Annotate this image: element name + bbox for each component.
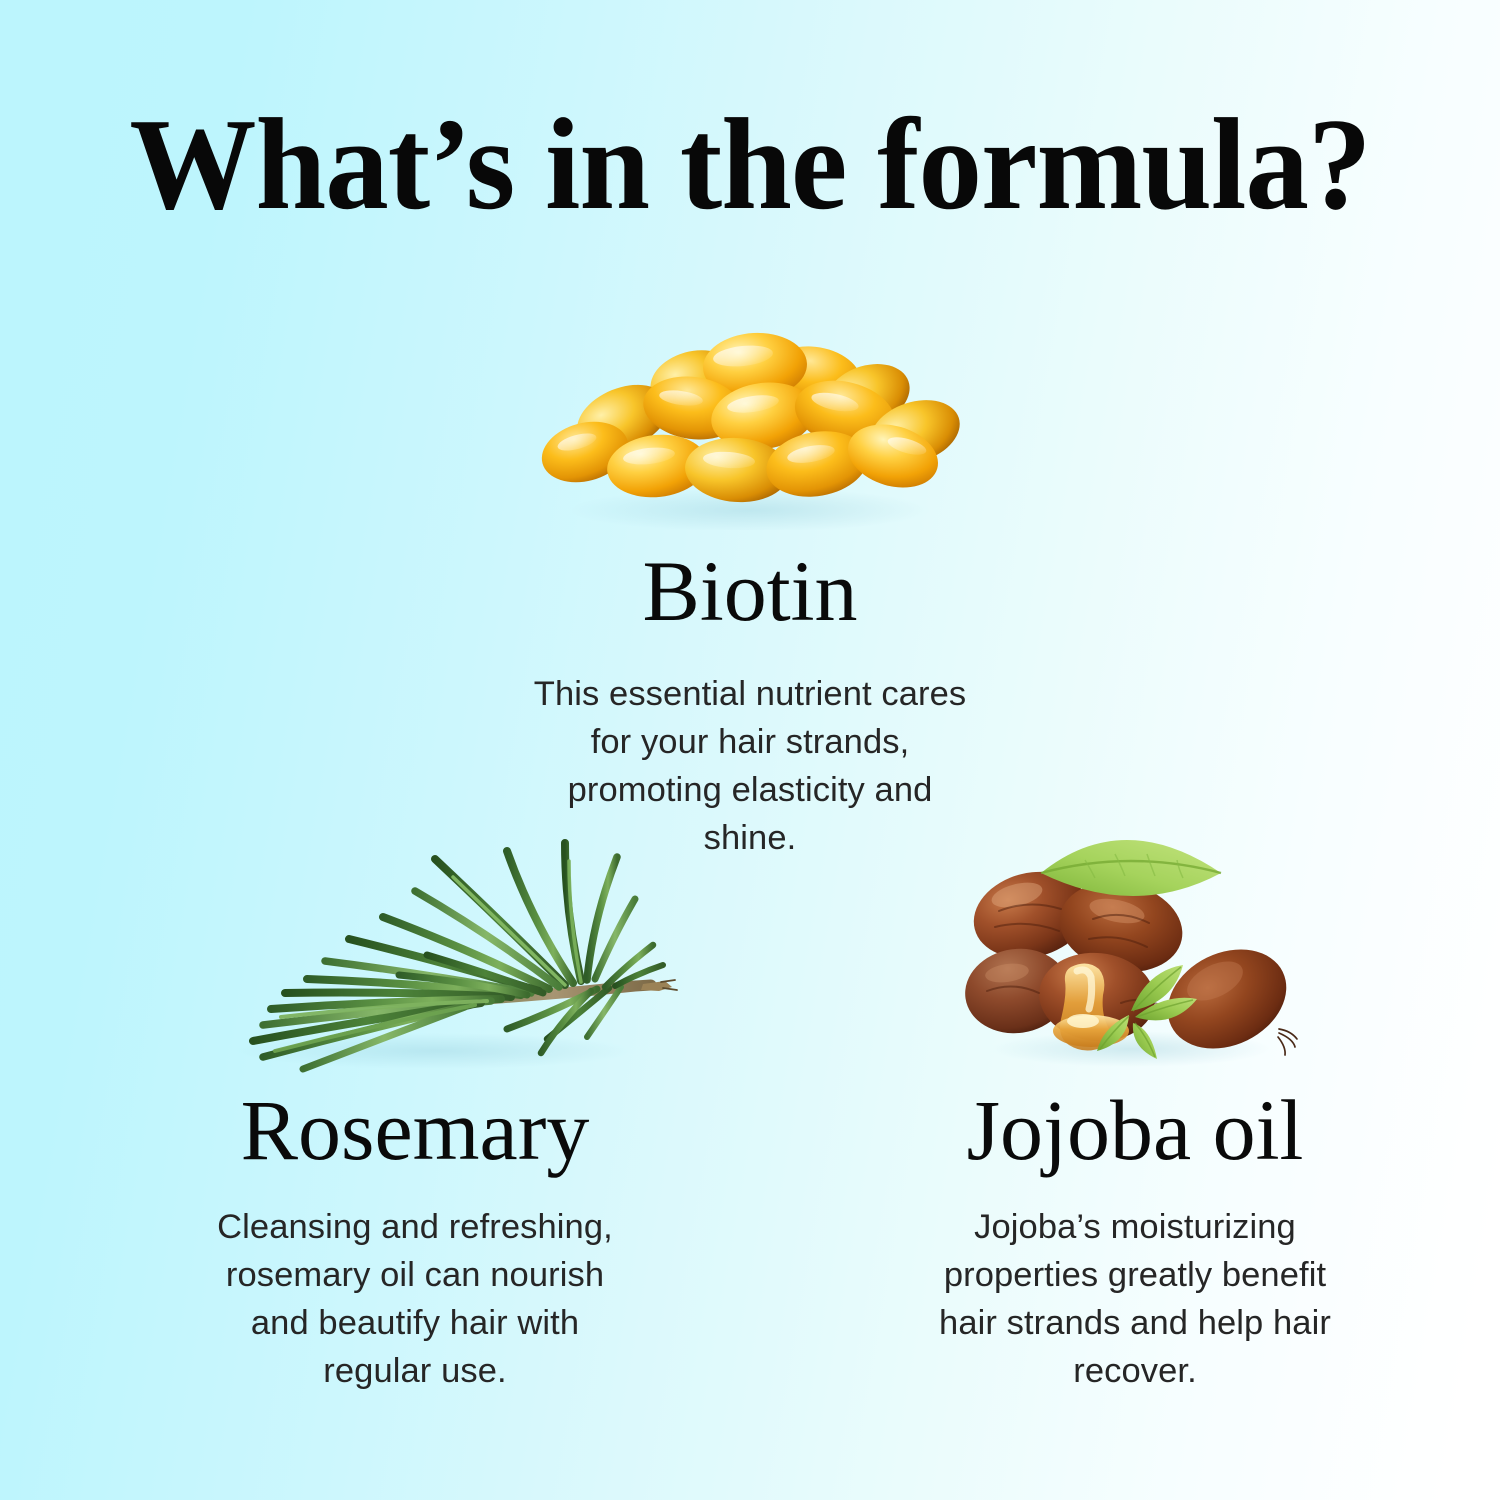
jojoba-seeds-image (935, 815, 1335, 1075)
description-line: for your hair strands, (470, 718, 1030, 766)
ingredient-name-jojoba: Jojoba oil (835, 1087, 1435, 1173)
ingredient-description-jojoba: Jojoba’s moisturizing properties greatly… (885, 1203, 1385, 1395)
ingredient-name-biotin: Biotin (430, 548, 1070, 634)
ingredients-poster: What’s in the formula? (0, 0, 1500, 1500)
rosemary-sprig-image (135, 815, 695, 1075)
ingredient-card-jojoba: Jojoba oil Jojoba’s moisturizing propert… (835, 815, 1435, 1395)
description-line: and beautify hair with (160, 1299, 670, 1347)
description-line: This essential nutrient cares (470, 670, 1030, 718)
ingredient-name-rosemary: Rosemary (95, 1087, 735, 1173)
description-line: Jojoba’s moisturizing (885, 1203, 1385, 1251)
ingredient-card-biotin: Biotin This essential nutrient cares for… (430, 330, 1070, 862)
description-line: properties greatly benefit (885, 1251, 1385, 1299)
description-line: rosemary oil can nourish (160, 1251, 670, 1299)
ingredient-card-rosemary: Rosemary Cleansing and refreshing, rosem… (95, 815, 735, 1395)
description-line: hair strands and help hair (885, 1299, 1385, 1347)
description-line: regular use. (160, 1347, 670, 1395)
ingredient-description-rosemary: Cleansing and refreshing, rosemary oil c… (160, 1203, 670, 1395)
description-line: promoting elasticity and (470, 766, 1030, 814)
page-title: What’s in the formula? (23, 96, 1478, 234)
biotin-softgel-capsules-image (515, 330, 985, 530)
description-line: Cleansing and refreshing, (160, 1203, 670, 1251)
description-line: recover. (885, 1347, 1385, 1395)
